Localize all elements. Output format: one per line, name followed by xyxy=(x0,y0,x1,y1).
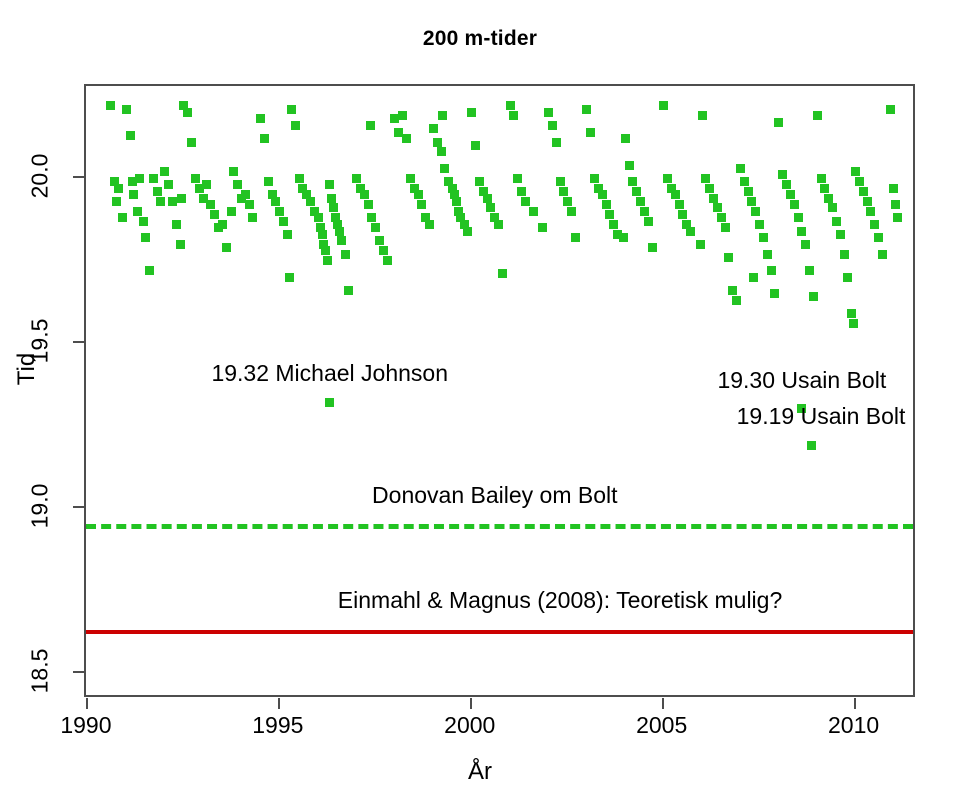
scatter-point xyxy=(874,233,883,242)
scatter-point xyxy=(321,246,330,255)
scatter-point xyxy=(366,121,375,130)
einmahl-magnus-line-label: Einmahl & Magnus (2008): Teoretisk mulig… xyxy=(338,587,782,614)
scatter-point xyxy=(323,256,332,265)
scatter-point xyxy=(375,236,384,245)
scatter-point xyxy=(863,197,872,206)
scatter-point xyxy=(283,230,292,239)
scatter-point xyxy=(129,190,138,199)
scatter-point xyxy=(847,309,856,318)
scatter-point xyxy=(696,240,705,249)
scatter-point xyxy=(671,190,680,199)
scatter-point xyxy=(371,223,380,232)
y-tick xyxy=(73,176,84,178)
scatter-point xyxy=(728,286,737,295)
scatter-point xyxy=(494,220,503,229)
michael-johnson-annotation: 19.32 Michael Johnson xyxy=(211,360,448,387)
scatter-point xyxy=(713,203,722,212)
scatter-point xyxy=(164,180,173,189)
scatter-point xyxy=(341,250,350,259)
scatter-point xyxy=(176,240,185,249)
scatter-point xyxy=(325,180,334,189)
scatter-point xyxy=(126,131,135,140)
scatter-point xyxy=(367,213,376,222)
scatter-point xyxy=(556,177,565,186)
scatter-point xyxy=(256,114,265,123)
einmahl-magnus-line xyxy=(86,630,913,634)
scatter-point xyxy=(417,200,426,209)
scatter-point xyxy=(686,227,695,236)
scatter-point xyxy=(559,187,568,196)
scatter-point xyxy=(156,197,165,206)
y-tick-label: 18.5 xyxy=(29,636,52,706)
scatter-point xyxy=(828,203,837,212)
scatter-point xyxy=(586,128,595,137)
scatter-point xyxy=(621,134,630,143)
x-tick xyxy=(470,698,472,709)
scatter-point xyxy=(241,190,250,199)
scatter-point xyxy=(414,190,423,199)
scatter-point xyxy=(191,174,200,183)
x-tick-label: 2005 xyxy=(636,712,687,739)
scatter-point xyxy=(463,227,472,236)
x-tick-label: 2010 xyxy=(828,712,879,739)
scatter-point xyxy=(517,187,526,196)
scatter-point xyxy=(153,187,162,196)
scatter-point xyxy=(360,190,369,199)
scatter-point xyxy=(866,207,875,216)
scatter-point xyxy=(177,194,186,203)
x-tick-label: 2000 xyxy=(444,712,495,739)
scatter-point xyxy=(112,197,121,206)
scatter-point xyxy=(632,187,641,196)
scatter-point xyxy=(648,243,657,252)
scatter-point xyxy=(122,105,131,114)
scatter-point xyxy=(736,164,745,173)
scatter-point xyxy=(114,184,123,193)
scatter-point xyxy=(675,200,684,209)
scatter-point xyxy=(778,170,787,179)
y-tick xyxy=(73,506,84,508)
scatter-point xyxy=(724,253,733,262)
x-tick-label: 1995 xyxy=(252,712,303,739)
scatter-point xyxy=(429,124,438,133)
scatter-point xyxy=(475,177,484,186)
scatter-point xyxy=(229,167,238,176)
scatter-point xyxy=(295,174,304,183)
scatter-point xyxy=(275,207,284,216)
scatter-point xyxy=(598,190,607,199)
scatter-point xyxy=(218,220,227,229)
scatter-point xyxy=(640,207,649,216)
scatter-point xyxy=(133,207,142,216)
scatter-point xyxy=(855,177,864,186)
scatter-point xyxy=(172,220,181,229)
scatter-point xyxy=(425,220,434,229)
scatter-point xyxy=(774,118,783,127)
usain-bolt-2009-annotation: 19.19 Usain Bolt xyxy=(737,403,906,430)
scatter-point xyxy=(506,101,515,110)
donovan-bailey-line-label: Donovan Bailey om Bolt xyxy=(372,482,617,509)
scatter-point xyxy=(563,197,572,206)
scatter-point xyxy=(709,194,718,203)
scatter-point xyxy=(851,167,860,176)
scatter-point xyxy=(782,180,791,189)
scatter-point xyxy=(698,111,707,120)
scatter-point xyxy=(582,105,591,114)
scatter-point xyxy=(264,177,273,186)
scatter-point xyxy=(318,230,327,239)
scatter-point xyxy=(605,210,614,219)
scatter-point xyxy=(767,266,776,275)
scatter-point xyxy=(889,184,898,193)
scatter-point xyxy=(202,180,211,189)
scatter-point xyxy=(790,200,799,209)
scatter-point xyxy=(840,250,849,259)
scatter-point xyxy=(329,203,338,212)
scatter-point xyxy=(678,210,687,219)
scatter-point xyxy=(187,138,196,147)
scatter-point xyxy=(135,174,144,183)
scatter-point xyxy=(285,273,294,282)
scatter-point xyxy=(306,197,315,206)
scatter-point xyxy=(870,220,879,229)
scatter-point xyxy=(836,230,845,239)
x-tick xyxy=(854,698,856,709)
scatter-point xyxy=(659,101,668,110)
scatter-point xyxy=(483,194,492,203)
scatter-point xyxy=(717,213,726,222)
scatter-point xyxy=(893,213,902,222)
x-tick xyxy=(278,698,280,709)
scatter-point xyxy=(206,200,215,209)
scatter-point xyxy=(327,194,336,203)
scatter-point xyxy=(886,105,895,114)
highlighted-scatter-point xyxy=(325,398,334,407)
x-tick-label: 1990 xyxy=(60,712,111,739)
donovan-bailey-line xyxy=(86,524,913,529)
scatter-point xyxy=(291,121,300,130)
scatter-point xyxy=(233,180,242,189)
scatter-point xyxy=(663,174,672,183)
scatter-point xyxy=(513,174,522,183)
scatter-point xyxy=(139,217,148,226)
x-tick xyxy=(662,698,664,709)
highlighted-scatter-point xyxy=(807,441,816,450)
scatter-point xyxy=(824,194,833,203)
scatter-point xyxy=(406,174,415,183)
scatter-point xyxy=(160,167,169,176)
scatter-point xyxy=(245,200,254,209)
scatter-point xyxy=(609,220,618,229)
scatter-point xyxy=(222,243,231,252)
scatter-point xyxy=(521,197,530,206)
scatter-point xyxy=(628,177,637,186)
scatter-point xyxy=(701,174,710,183)
scatter-point xyxy=(813,111,822,120)
scatter-point xyxy=(732,296,741,305)
scatter-point xyxy=(364,200,373,209)
scatter-point xyxy=(625,161,634,170)
scatter-point xyxy=(486,203,495,212)
scatter-point xyxy=(567,207,576,216)
scatter-point xyxy=(529,207,538,216)
scatter-point xyxy=(106,101,115,110)
scatter-point xyxy=(314,213,323,222)
scatter-point xyxy=(509,111,518,120)
scatter-point xyxy=(817,174,826,183)
scatter-point xyxy=(287,105,296,114)
x-axis-title: År xyxy=(0,758,960,786)
scatter-point xyxy=(538,223,547,232)
usain-bolt-2008-annotation: 19.30 Usain Bolt xyxy=(717,367,886,394)
scatter-point xyxy=(619,233,628,242)
scatter-point xyxy=(805,266,814,275)
scatter-point xyxy=(260,134,269,143)
y-tick xyxy=(73,671,84,673)
scatter-point xyxy=(571,233,580,242)
scatter-point xyxy=(271,197,280,206)
scatter-point xyxy=(279,217,288,226)
y-tick xyxy=(73,341,84,343)
scatter-point xyxy=(498,269,507,278)
scatter-point xyxy=(644,217,653,226)
scatter-point xyxy=(438,111,447,120)
scatter-point xyxy=(843,273,852,282)
scatter-point xyxy=(149,174,158,183)
scatter-point xyxy=(590,174,599,183)
x-tick xyxy=(86,698,88,709)
scatter-point xyxy=(763,250,772,259)
chart-title: 200 m-tider xyxy=(0,27,960,51)
scatter-point xyxy=(602,200,611,209)
scatter-point xyxy=(740,177,749,186)
scatter-point xyxy=(398,111,407,120)
y-tick-label: 19.5 xyxy=(29,306,52,376)
scatter-point xyxy=(145,266,154,275)
scatter-point xyxy=(352,174,361,183)
scatter-point xyxy=(227,207,236,216)
scatter-point xyxy=(433,138,442,147)
scatter-point xyxy=(744,187,753,196)
scatter-point xyxy=(801,240,810,249)
scatter-point xyxy=(437,147,446,156)
scatter-point xyxy=(786,190,795,199)
chart-figure: 200 m-tider Tid År 20.019.519.018.5 1990… xyxy=(0,0,960,806)
scatter-point xyxy=(248,213,257,222)
scatter-point xyxy=(705,184,714,193)
scatter-point xyxy=(820,184,829,193)
scatter-point xyxy=(210,210,219,219)
scatter-point xyxy=(118,213,127,222)
scatter-point xyxy=(747,197,756,206)
scatter-point xyxy=(759,233,768,242)
scatter-point xyxy=(770,289,779,298)
scatter-point xyxy=(749,273,758,282)
y-tick-label: 19.0 xyxy=(29,471,52,541)
scatter-point xyxy=(751,207,760,216)
plot-area: Donovan Bailey om BoltEinmahl & Magnus (… xyxy=(84,84,915,697)
scatter-point xyxy=(383,256,392,265)
scatter-point xyxy=(891,200,900,209)
scatter-point xyxy=(755,220,764,229)
scatter-point xyxy=(849,319,858,328)
scatter-point xyxy=(832,217,841,226)
scatter-point xyxy=(548,121,557,130)
scatter-point xyxy=(878,250,887,259)
scatter-point xyxy=(402,134,411,143)
scatter-point xyxy=(809,292,818,301)
scatter-point xyxy=(859,187,868,196)
scatter-point xyxy=(636,197,645,206)
y-tick-label: 20.0 xyxy=(29,141,52,211)
scatter-point xyxy=(552,138,561,147)
scatter-point xyxy=(544,108,553,117)
scatter-point xyxy=(452,197,461,206)
scatter-point xyxy=(183,108,192,117)
scatter-point xyxy=(141,233,150,242)
scatter-point xyxy=(721,223,730,232)
scatter-point xyxy=(471,141,480,150)
scatter-point xyxy=(335,227,344,236)
scatter-point xyxy=(797,227,806,236)
scatter-point xyxy=(379,246,388,255)
scatter-point xyxy=(440,164,449,173)
scatter-point xyxy=(168,197,177,206)
scatter-point xyxy=(467,108,476,117)
scatter-point xyxy=(337,236,346,245)
scatter-point xyxy=(794,213,803,222)
scatter-point xyxy=(344,286,353,295)
